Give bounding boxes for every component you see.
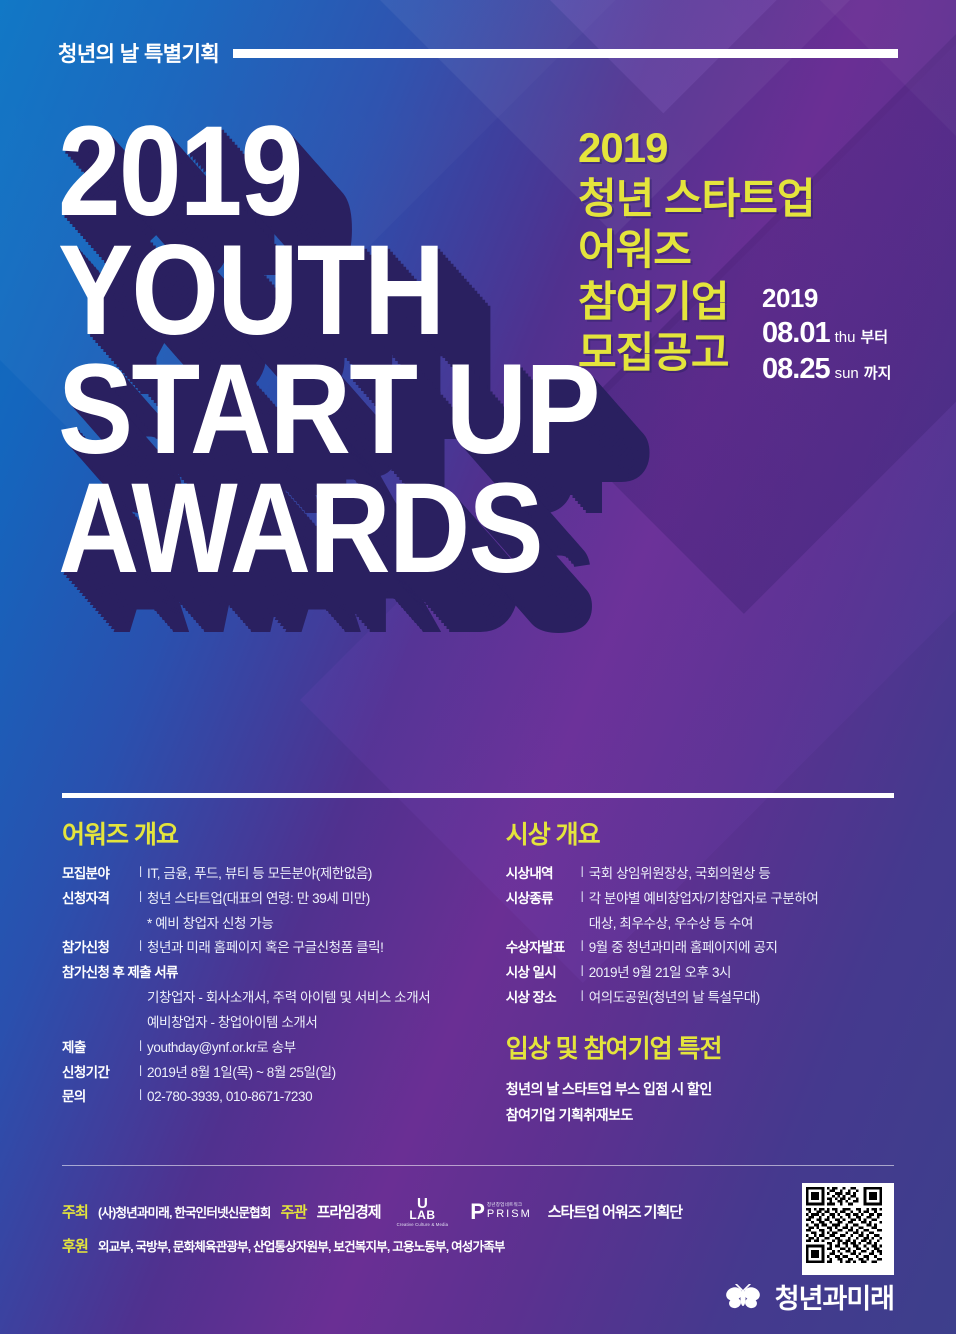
footer-divider [62,1165,894,1166]
documents-heading: 참가신청 후 제출 서류 [62,964,178,982]
info-row: 제출 ㅣ youthday@ynf.or.kr로 송부 [62,1039,483,1057]
row-label: 시상 장소 [506,989,576,1007]
info-row-continuation: 대상, 최우수상, 우수상 등 수여 [506,915,894,933]
ulab-logo-lab: LAB [409,1209,435,1221]
awards-overview-column: 어워즈 개요 모집분야 ㅣ IT, 금융, 푸드, 뷰티 등 모든분야(제한없음… [62,815,483,1131]
organizer-label: 주관 [281,1201,307,1222]
main-divider [62,793,894,798]
date-end: 08.25 [762,351,830,387]
info-row: 수상자발표 ㅣ 9월 중 청년과미래 홈페이지에 공지 [506,939,894,957]
row-separator: ㅣ [134,1039,147,1055]
prism-logo-p: P [470,1202,485,1222]
poster-canvas: 청년의 날 특별기획 2019 YOUTH START UP AWARDS 20… [0,0,956,1334]
host-value: (사)청년과미래, 한국인터넷신문협회 [98,1202,271,1221]
ulab-logo-tagline: Creative Culture & Media [397,1223,449,1227]
row-value: 2019년 9월 21일 오후 3시 [589,964,894,982]
date-end-weekday: sun [835,365,859,384]
row-value: 청년 스타트업(대표의 연령: 만 39세 미만) [147,890,483,908]
row-value: 2019년 8월 1일(목) ~ 8월 25일(일) [147,1064,483,1082]
row-value: 각 분야별 예비창업자/기창업자로 구분하여 [589,890,894,908]
ulab-logo-icon: U LAB Creative Culture & Media [397,1196,449,1227]
date-start-weekday: thu [835,329,856,348]
documents-heading-row: 참가신청 후 제출 서류 [62,964,483,982]
info-section: 어워즈 개요 모집분야 ㅣ IT, 금융, 푸드, 뷰티 등 모든분야(제한없음… [62,815,894,1131]
korean-title-line-1: 2019 [578,122,815,173]
row-value: 대상, 최우수상, 우수상 등 수여 [589,915,894,933]
support-label: 후원 [62,1235,88,1256]
date-year: 2019 [762,282,891,315]
kicker-text: 청년의 날 특별기획 [58,38,219,68]
row-value: youthday@ynf.or.kr로 송부 [147,1039,483,1057]
document-item: 기창업자 - 회사소개서, 주력 아이템 및 서비스 소개서 [62,989,483,1007]
qr-code-icon[interactable] [802,1183,894,1275]
host-label: 주최 [62,1201,88,1222]
row-separator: ㅣ [576,939,589,955]
row-label: 시상내역 [506,865,576,883]
document-item: 예비창업자 - 창업아이템 소개서 [62,1014,483,1032]
row-label: 제출 [62,1039,134,1057]
info-row: 시상 장소 ㅣ 여의도공원(청년의 날 특설무대) [506,989,894,1007]
benefit-item: 청년의 날 스타트업 부스 입점 시 할인 [506,1079,894,1099]
row-value: 02-780-3939, 010-8671-7230 [147,1088,483,1106]
info-row: 모집분야 ㅣ IT, 금융, 푸드, 뷰티 등 모든분야(제한없음) [62,865,483,883]
info-row: 신청자격 ㅣ 청년 스타트업(대표의 연령: 만 39세 미만) [62,890,483,908]
row-separator: ㅣ [134,1064,147,1080]
footer: 주최 (사)청년과미래, 한국인터넷신문협회 주관 프라임경제 U LAB Cr… [62,1196,782,1264]
row-value: 여의도공원(청년의 날 특설무대) [589,989,894,1007]
organizer-value: 프라임경제 [317,1201,381,1222]
document-text: 예비창업자 - 창업아이템 소개서 [147,1014,483,1032]
benefit-item: 참여기업 기획취재보도 [506,1105,894,1125]
row-separator: ㅣ [576,964,589,980]
row-separator: ㅣ [576,865,589,881]
benefits-title: 입상 및 참여기업 특전 [506,1029,894,1065]
row-separator: ㅣ [134,939,147,955]
date-start-suffix: 부터 [860,329,888,348]
row-label: 문의 [62,1088,134,1106]
info-row: 참가신청 ㅣ 청년과 미래 홈페이지 혹은 구글신청폼 클릭! [62,939,483,957]
support-value: 외교부, 국방부, 문화체육관광부, 산업통상자원부, 보건복지부, 고용노동부… [98,1236,505,1255]
info-row: 시상종류 ㅣ 각 분야별 예비창업자/기창업자로 구분하여 [506,890,894,908]
info-row: 문의 ㅣ 02-780-3939, 010-8671-7230 [62,1088,483,1106]
prism-logo-icon: P 청년창업네트워크 PRISM [470,1202,532,1222]
row-label: 신청기간 [62,1064,134,1082]
date-end-row: 08.25 sun 까지 [762,351,891,387]
kicker-rule [233,49,898,58]
planning-team: 스타트업 어워즈 기획단 [548,1201,682,1222]
brand-name: 청년과미래 [775,1277,894,1316]
date-start-row: 08.01 thu 부터 [762,315,891,351]
row-label: 신청자격 [62,890,134,908]
info-row: 시상내역 ㅣ 국회 상임위원장상, 국회의원상 등 [506,865,894,883]
row-separator: ㅣ [576,989,589,1005]
date-start: 08.01 [762,315,830,351]
row-label: 참가신청 [62,939,134,957]
header-kicker-row: 청년의 날 특별기획 [58,38,898,68]
brand-lockup: 청년과미래 [721,1277,894,1316]
row-label: 시상종류 [506,890,576,908]
row-separator: ㅣ [576,890,589,906]
row-separator: ㅣ [134,865,147,881]
prism-logo-english: PRISM [487,1209,532,1220]
prism-logo-text: 청년창업네트워크 PRISM [487,1203,532,1220]
row-value: 국회 상임위원장상, 국회의원상 등 [589,865,894,883]
row-separator: ㅣ [134,890,147,906]
butterfly-icon [721,1284,765,1310]
row-label: 수상자발표 [506,939,576,957]
document-text: 기창업자 - 회사소개서, 주력 아이템 및 서비스 소개서 [147,989,483,1007]
date-end-suffix: 까지 [864,365,892,384]
row-value: * 예비 창업자 신청 가능 [147,915,483,933]
row-value: 청년과 미래 홈페이지 혹은 구글신청폼 클릭! [147,939,483,957]
footer-host-row: 주최 (사)청년과미래, 한국인터넷신문협회 주관 프라임경제 U LAB Cr… [62,1196,782,1227]
info-row: 시상 일시 ㅣ 2019년 9월 21일 오후 3시 [506,964,894,982]
row-value: 9월 중 청년과미래 홈페이지에 공지 [589,939,894,957]
korean-title-line-2: 청년 스타트업 [578,173,815,224]
awards-overview-title: 어워즈 개요 [62,815,483,851]
headline-line-4: AWARDS [58,469,674,588]
info-row-continuation: * 예비 창업자 신청 가능 [62,915,483,933]
korean-title-line-3: 어워즈 [578,224,815,275]
date-block: 2019 08.01 thu 부터 08.25 sun 까지 [762,282,891,387]
row-label: 모집분야 [62,865,134,883]
footer-support-row: 후원 외교부, 국방부, 문화체육관광부, 산업통상자원부, 보건복지부, 고용… [62,1235,782,1256]
row-label: 시상 일시 [506,964,576,982]
prize-overview-title: 시상 개요 [506,815,894,851]
info-row: 신청기간 ㅣ 2019년 8월 1일(목) ~ 8월 25일(일) [62,1064,483,1082]
row-value: IT, 금융, 푸드, 뷰티 등 모든분야(제한없음) [147,865,483,883]
prize-overview-column: 시상 개요 시상내역 ㅣ 국회 상임위원장상, 국회의원상 등 시상종류 ㅣ 각… [506,815,894,1131]
row-separator: ㅣ [134,1088,147,1104]
